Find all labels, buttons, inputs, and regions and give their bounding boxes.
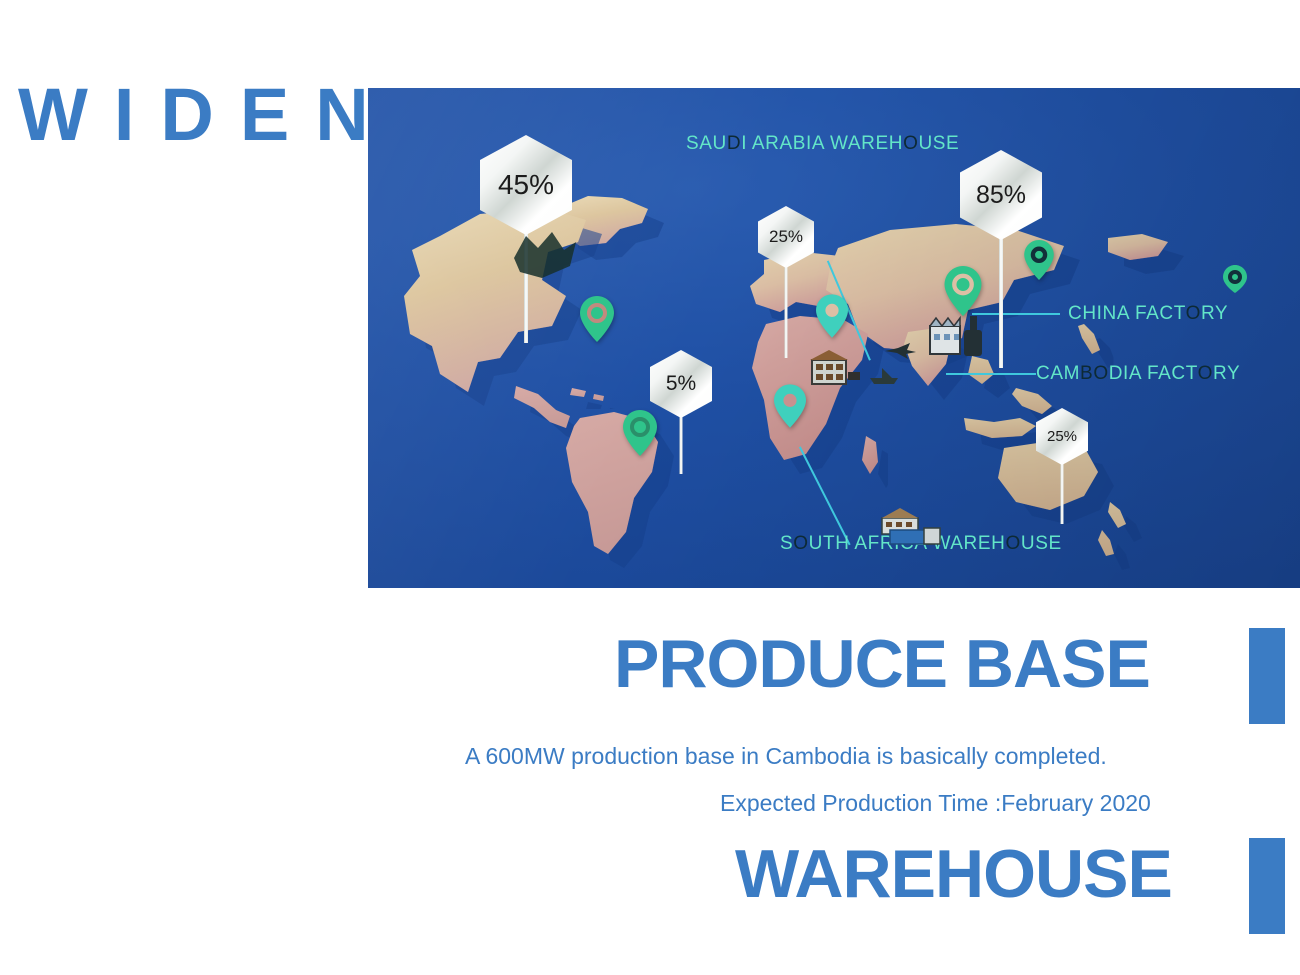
marker-value: 25% — [1047, 428, 1077, 445]
accent-bar-top — [1249, 628, 1285, 724]
map-pin-icon — [1024, 240, 1054, 280]
leader-line-cambodia — [946, 373, 1036, 375]
location-pin-south-america[interactable] — [623, 410, 657, 456]
marker-hexagon: 5% — [650, 350, 712, 418]
marker-south-america[interactable]: 5% — [650, 350, 712, 418]
location-pin-far-east — [1220, 264, 1250, 294]
map-pin-icon — [816, 294, 848, 338]
label-cambodia-factory: CAMBODIA FACTORY — [1036, 363, 1240, 385]
warehouse-icon-saudi — [808, 344, 864, 390]
marker-hexagon: 85% — [960, 150, 1042, 240]
marker-value: 25% — [769, 227, 803, 247]
marker-stem — [785, 266, 788, 358]
location-pin-south-africa[interactable] — [774, 384, 806, 428]
marker-asia[interactable]: 85% — [960, 150, 1042, 240]
warehouse-icon-south-africa — [880, 500, 946, 548]
marker-stem — [1061, 462, 1064, 524]
subtitle-line-2: Expected Production Time :February 2020 — [720, 790, 1151, 817]
marker-value: 45% — [498, 169, 554, 201]
marker-hexagon: 25% — [758, 206, 814, 268]
map-pin-icon — [580, 296, 614, 342]
marker-value: 5% — [666, 372, 696, 396]
marker-europe[interactable]: 25% — [758, 206, 814, 268]
marker-north-america[interactable]: 45% — [480, 135, 572, 235]
boat-icon-indian-ocean — [868, 366, 902, 386]
title-warehouse: WAREHOUSE — [735, 840, 1172, 908]
marker-hexagon: 45% — [480, 135, 572, 235]
airplane-icon-asia — [884, 342, 918, 360]
brand-wordmark: WIDEN — [18, 78, 395, 152]
location-pin-northeast-asia[interactable] — [1024, 240, 1054, 280]
label-china-factory: CHINA FACTORY — [1068, 303, 1228, 325]
terrain-shadow-north-america — [508, 228, 582, 282]
location-pin-north-america[interactable] — [580, 296, 614, 342]
factory-icon-china — [928, 306, 992, 362]
accent-bar-bottom — [1249, 838, 1285, 934]
marker-stem — [999, 234, 1003, 368]
map-pin-icon — [774, 384, 806, 428]
map-pin-icon — [623, 410, 657, 456]
marker-value: 85% — [976, 181, 1026, 210]
marker-oceania[interactable]: 25% — [1036, 408, 1088, 465]
location-pin-saudi-arabia[interactable] — [816, 294, 848, 338]
label-saudi-arabia-warehouse: SAUDI ARABIA WAREHOUSE — [686, 133, 959, 155]
marker-stem — [680, 416, 683, 474]
world-map-panel: SAUDI ARABIA WAREHOUSE CHINA FACTORY CAM… — [368, 88, 1300, 588]
subtitle-line-1: A 600MW production base in Cambodia is b… — [465, 743, 1107, 770]
marker-hexagon: 25% — [1036, 408, 1088, 465]
title-produce-base: PRODUCE BASE — [614, 630, 1150, 698]
